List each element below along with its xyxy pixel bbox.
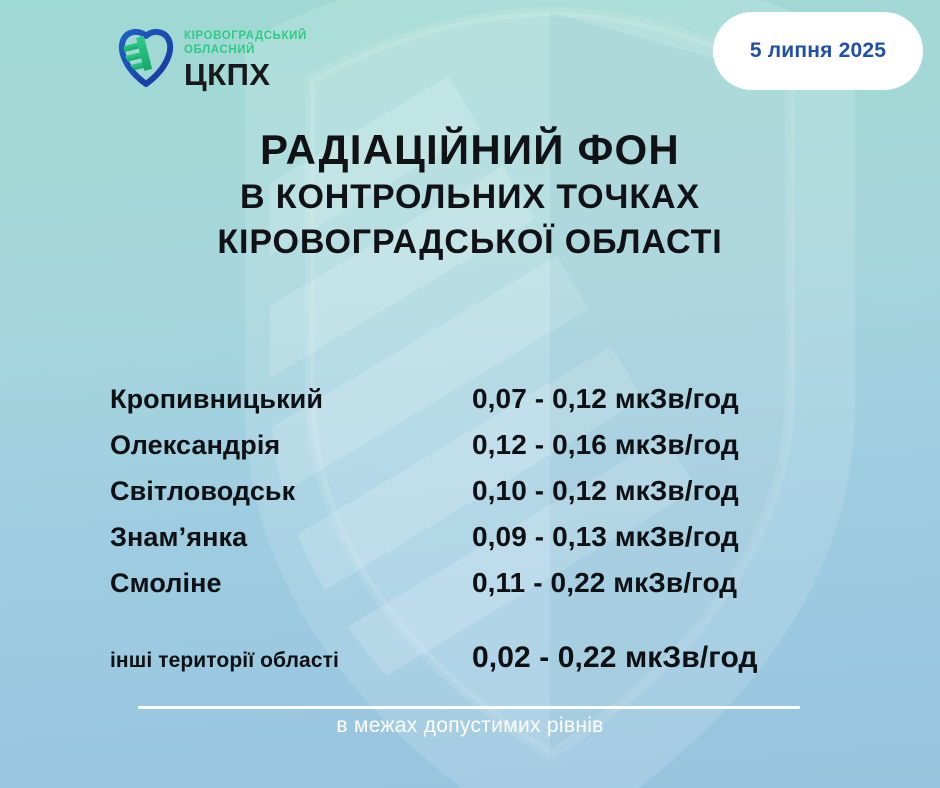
- org-logo-text: КІРОВОГРАДСЬКИЙ ОБЛАСНИЙ ЦКПХ: [184, 29, 307, 92]
- radiation-readings-table: Кропивницький 0,07 - 0,12 мкЗв/год Олекс…: [110, 383, 840, 685]
- date-badge-text: 5 липня 2025: [750, 39, 886, 63]
- reading-location: інші території області: [110, 649, 472, 673]
- reading-location: Світловодськ: [110, 476, 472, 507]
- footer-divider: [138, 706, 800, 709]
- title-line-1: РАДІАЦІЙНИЙ ФОН: [0, 126, 940, 175]
- date-badge: 5 липня 2025: [713, 12, 923, 90]
- org-abbreviation: ЦКПХ: [184, 59, 307, 92]
- footer-note: в межах допустимих рівнів: [0, 714, 940, 738]
- shield-logo-icon: [118, 26, 174, 94]
- table-row: Олександрія 0,12 - 0,16 мкЗв/год: [110, 429, 840, 475]
- reading-value: 0,07 - 0,12 мкЗв/год: [472, 383, 739, 415]
- org-name-line-2: ОБЛАСНИЙ: [184, 43, 307, 57]
- org-name-line-1: КІРОВОГРАДСЬКИЙ: [184, 29, 307, 43]
- title-line-3: КІРОВОГРАДСЬКОЇ ОБЛАСТІ: [0, 220, 940, 265]
- page-title: РАДІАЦІЙНИЙ ФОН В КОНТРОЛЬНИХ ТОЧКАХ КІР…: [0, 126, 940, 264]
- table-row: Знам’янка 0,09 - 0,13 мкЗв/год: [110, 521, 840, 567]
- reading-location: Знам’янка: [110, 522, 472, 553]
- table-row: Смоліне 0,11 - 0,22 мкЗв/год: [110, 567, 840, 613]
- org-logo: КІРОВОГРАДСЬКИЙ ОБЛАСНИЙ ЦКПХ: [118, 26, 307, 94]
- reading-location: Смоліне: [110, 568, 472, 599]
- reading-value: 0,10 - 0,12 мкЗв/год: [472, 475, 739, 507]
- reading-location: Олександрія: [110, 430, 472, 461]
- reading-location: Кропивницький: [110, 384, 472, 415]
- reading-value: 0,02 - 0,22 мкЗв/год: [472, 641, 758, 675]
- table-row: Кропивницький 0,07 - 0,12 мкЗв/год: [110, 383, 840, 429]
- table-row-other-territories: інші території області 0,02 - 0,22 мкЗв/…: [110, 641, 840, 685]
- reading-value: 0,09 - 0,13 мкЗв/год: [472, 521, 739, 553]
- infographic-poster: КІРОВОГРАДСЬКИЙ ОБЛАСНИЙ ЦКПХ 5 липня 20…: [0, 0, 940, 788]
- table-row: Світловодськ 0,10 - 0,12 мкЗв/год: [110, 475, 840, 521]
- reading-value: 0,12 - 0,16 мкЗв/год: [472, 429, 739, 461]
- title-line-2: В КОНТРОЛЬНИХ ТОЧКАХ: [0, 175, 940, 220]
- reading-value: 0,11 - 0,22 мкЗв/год: [472, 567, 737, 599]
